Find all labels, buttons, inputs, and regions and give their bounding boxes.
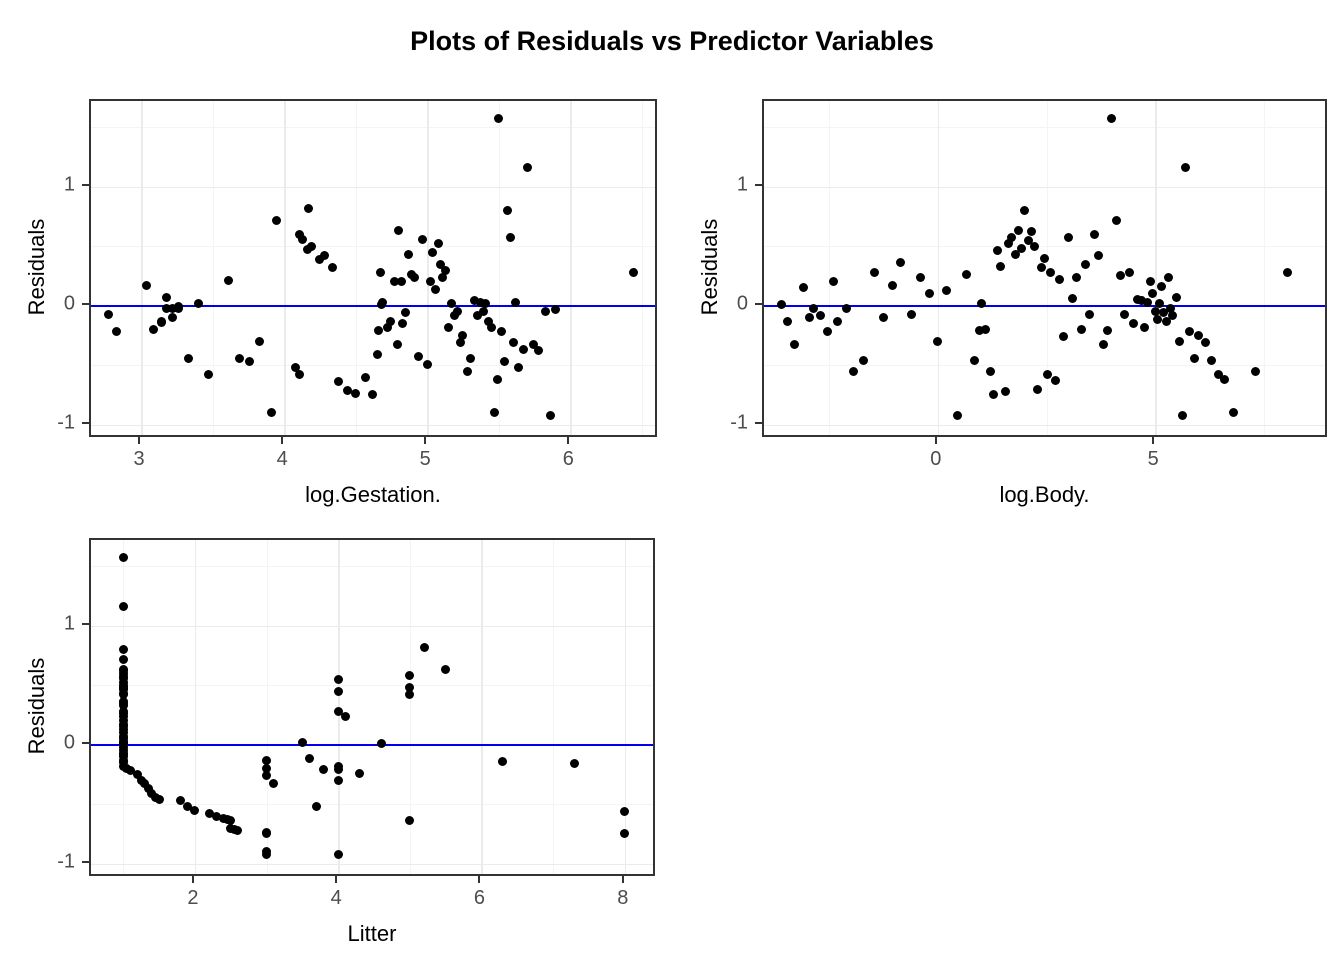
data-point — [1116, 271, 1125, 280]
data-point — [1143, 298, 1152, 307]
data-point — [996, 262, 1005, 271]
y-tick-label: 1 — [23, 612, 75, 635]
data-point — [1120, 310, 1129, 319]
data-point — [142, 281, 151, 290]
data-point — [1164, 273, 1173, 282]
data-point — [1103, 326, 1112, 335]
data-point — [1007, 233, 1016, 242]
data-point — [977, 299, 986, 308]
data-point — [1077, 325, 1086, 334]
y-tick-mark — [82, 184, 89, 186]
data-point — [1046, 268, 1055, 277]
data-point — [376, 268, 385, 277]
data-point — [1153, 315, 1162, 324]
data-point — [620, 829, 629, 838]
data-point — [1001, 387, 1010, 396]
x-tick-label: 4 — [277, 448, 288, 471]
data-point — [1040, 254, 1049, 263]
gridline-major-horizontal — [764, 425, 1325, 427]
gridline-major-vertical — [284, 101, 286, 435]
data-point — [397, 277, 406, 286]
data-point — [190, 806, 199, 815]
data-point — [272, 216, 281, 225]
x-tick-mark — [1152, 437, 1154, 444]
data-point — [463, 367, 472, 376]
x-tick-mark — [424, 437, 426, 444]
data-point — [423, 360, 432, 369]
x-tick-label: 3 — [134, 448, 145, 471]
x-axis-title-log-gestation: log.Gestation. — [89, 482, 657, 508]
data-point — [1172, 293, 1181, 302]
data-point — [1181, 163, 1190, 172]
data-point — [373, 350, 382, 359]
data-point — [1051, 376, 1060, 385]
data-point — [1207, 356, 1216, 365]
data-point — [441, 665, 450, 674]
data-point — [870, 268, 879, 277]
y-tick-mark — [82, 623, 89, 625]
data-point — [295, 370, 304, 379]
data-point — [224, 276, 233, 285]
data-point — [267, 408, 276, 417]
gridline-minor-vertical — [829, 101, 830, 435]
data-point — [493, 375, 502, 384]
data-point — [1030, 242, 1039, 251]
data-point — [896, 258, 905, 267]
data-point — [1140, 323, 1149, 332]
data-point — [184, 354, 193, 363]
data-point — [981, 325, 990, 334]
gridline-minor-horizontal — [91, 566, 653, 567]
gridline-major-vertical — [625, 540, 627, 874]
data-point — [255, 337, 264, 346]
gridline-minor-vertical — [499, 101, 500, 435]
data-point — [1190, 354, 1199, 363]
data-point — [953, 411, 962, 420]
data-point — [1107, 114, 1116, 123]
x-tick-mark — [622, 876, 624, 883]
gridline-major-horizontal — [91, 187, 655, 189]
gridline-major-vertical — [938, 101, 940, 435]
y-tick-label: 0 — [23, 731, 75, 754]
gridline-major-horizontal — [764, 187, 1325, 189]
data-point — [174, 304, 183, 313]
data-point — [378, 298, 387, 307]
data-point — [1017, 244, 1026, 253]
data-point — [262, 771, 271, 780]
data-point — [777, 300, 786, 309]
gridline-major-vertical — [481, 540, 483, 874]
gridline-minor-horizontal — [91, 685, 653, 686]
data-point — [1055, 275, 1064, 284]
data-point — [298, 235, 307, 244]
data-point — [398, 319, 407, 328]
data-point — [993, 246, 1002, 255]
data-point — [989, 390, 998, 399]
y-tick-mark — [82, 861, 89, 863]
data-point — [312, 802, 321, 811]
y-tick-label: 1 — [696, 173, 748, 196]
data-point — [1020, 206, 1029, 215]
data-point — [431, 285, 440, 294]
data-point — [833, 317, 842, 326]
y-tick-label: -1 — [696, 411, 748, 434]
x-tick-mark — [335, 876, 337, 883]
data-point — [319, 765, 328, 774]
data-point — [962, 270, 971, 279]
y-tick-label: 1 — [23, 173, 75, 196]
x-tick-label: 0 — [930, 448, 941, 471]
x-tick-mark — [478, 876, 480, 883]
data-point — [479, 307, 488, 316]
gridline-minor-vertical — [356, 101, 357, 435]
data-point — [304, 204, 313, 213]
gridline-major-vertical — [1155, 101, 1157, 435]
data-point — [262, 829, 271, 838]
data-point — [925, 289, 934, 298]
data-point — [1081, 260, 1090, 269]
data-point — [374, 326, 383, 335]
data-point — [401, 308, 410, 317]
plot-area-log-body[interactable] — [762, 99, 1327, 437]
data-point — [1229, 408, 1238, 417]
gridline-minor-vertical — [553, 540, 554, 874]
y-tick-label: 0 — [23, 292, 75, 315]
data-point — [487, 323, 496, 332]
data-point — [1068, 294, 1077, 303]
data-point — [503, 206, 512, 215]
gridline-minor-vertical — [213, 101, 214, 435]
data-point — [334, 850, 343, 859]
data-point — [394, 226, 403, 235]
gridline-major-horizontal — [91, 425, 655, 427]
data-point — [104, 310, 113, 319]
data-point — [466, 354, 475, 363]
data-point — [509, 338, 518, 347]
data-point — [328, 263, 337, 272]
x-tick-label: 5 — [420, 448, 431, 471]
data-point — [986, 367, 995, 376]
data-point — [1090, 230, 1099, 239]
data-point — [334, 687, 343, 696]
gridline-major-vertical — [427, 101, 429, 435]
data-point — [233, 826, 242, 835]
data-point — [1155, 299, 1164, 308]
data-point — [162, 293, 171, 302]
data-point — [355, 769, 364, 778]
data-point — [799, 283, 808, 292]
data-point — [1157, 282, 1166, 291]
data-point — [410, 273, 419, 282]
data-point — [546, 411, 555, 420]
data-point — [1014, 226, 1023, 235]
x-tick-label: 5 — [1148, 448, 1159, 471]
data-point — [1168, 311, 1177, 320]
data-point — [235, 354, 244, 363]
data-point — [1112, 216, 1121, 225]
data-point — [428, 248, 437, 257]
data-point — [298, 738, 307, 747]
data-point — [269, 779, 278, 788]
gridline-minor-vertical — [267, 540, 268, 874]
y-tick-mark — [82, 303, 89, 305]
gridline-minor-horizontal — [764, 246, 1325, 247]
data-point — [1027, 227, 1036, 236]
data-point — [405, 690, 414, 699]
data-point — [458, 331, 467, 340]
data-point — [916, 273, 925, 282]
data-point — [168, 313, 177, 322]
data-point — [494, 114, 503, 123]
x-tick-mark — [281, 437, 283, 444]
data-point — [1185, 327, 1194, 336]
gridline-minor-horizontal — [764, 365, 1325, 366]
data-point — [1085, 310, 1094, 319]
gridline-minor-horizontal — [764, 127, 1325, 128]
data-point — [377, 739, 386, 748]
data-point — [933, 337, 942, 346]
data-point — [305, 754, 314, 763]
y-tick-label: -1 — [23, 850, 75, 873]
data-point — [307, 242, 316, 251]
data-point — [790, 340, 799, 349]
data-point — [842, 304, 851, 313]
data-point — [849, 367, 858, 376]
data-point — [420, 643, 429, 652]
data-point — [404, 250, 413, 259]
data-point — [1125, 268, 1134, 277]
x-tick-mark — [138, 437, 140, 444]
data-point — [805, 313, 814, 322]
data-point — [1037, 263, 1046, 272]
data-point — [320, 251, 329, 260]
y-tick-mark — [755, 184, 762, 186]
data-point — [149, 325, 158, 334]
data-point — [1220, 375, 1229, 384]
data-point — [441, 266, 450, 275]
plot-area-litter[interactable] — [89, 538, 655, 876]
data-point — [361, 373, 370, 382]
data-point — [1175, 337, 1184, 346]
data-point — [514, 363, 523, 372]
figure-root: Plots of Residuals vs Predictor Variable… — [0, 0, 1344, 960]
y-tick-label: -1 — [23, 411, 75, 434]
data-point — [970, 356, 979, 365]
data-point — [629, 268, 638, 277]
data-point — [157, 318, 166, 327]
data-point — [1033, 385, 1042, 394]
data-point — [414, 352, 423, 361]
data-point — [341, 712, 350, 721]
data-point — [155, 795, 164, 804]
y-axis-title-residuals-1: Residuals — [24, 98, 50, 436]
y-tick-mark — [82, 742, 89, 744]
data-point — [620, 807, 629, 816]
x-tick-mark — [567, 437, 569, 444]
figure-title: Plots of Residuals vs Predictor Variable… — [0, 26, 1344, 57]
data-point — [368, 390, 377, 399]
data-point — [859, 356, 868, 365]
data-point — [453, 307, 462, 316]
x-tick-label: 4 — [331, 887, 342, 910]
data-point — [386, 317, 395, 326]
data-point — [334, 776, 343, 785]
x-tick-label: 2 — [187, 887, 198, 910]
gridline-minor-horizontal — [91, 804, 653, 805]
data-point — [783, 317, 792, 326]
data-point — [1146, 277, 1155, 286]
data-point — [405, 671, 414, 680]
x-tick-mark — [192, 876, 194, 883]
y-tick-label: 0 — [696, 292, 748, 315]
data-point — [942, 286, 951, 295]
data-point — [1129, 319, 1138, 328]
data-point — [534, 346, 543, 355]
data-point — [1178, 411, 1187, 420]
gridline-major-horizontal — [91, 864, 653, 866]
data-point — [519, 345, 528, 354]
data-point — [334, 377, 343, 386]
data-point — [112, 327, 121, 336]
gridline-minor-vertical — [1264, 101, 1265, 435]
y-tick-mark — [82, 422, 89, 424]
x-tick-label: 8 — [617, 887, 628, 910]
data-point — [1064, 233, 1073, 242]
y-tick-mark — [755, 422, 762, 424]
data-point — [497, 327, 506, 336]
y-axis-title-residuals-3: Residuals — [24, 537, 50, 875]
data-point — [879, 313, 888, 322]
x-axis-title-log-body: log.Body. — [762, 482, 1327, 508]
data-point — [204, 370, 213, 379]
data-point — [1059, 332, 1068, 341]
data-point — [1201, 338, 1210, 347]
y-tick-mark — [755, 303, 762, 305]
data-point — [506, 233, 515, 242]
gridline-major-vertical — [141, 101, 143, 435]
gridline-major-horizontal — [91, 626, 653, 628]
data-point — [490, 408, 499, 417]
x-tick-label: 6 — [563, 448, 574, 471]
data-point — [194, 299, 203, 308]
data-point — [829, 277, 838, 286]
gridline-major-vertical — [570, 101, 572, 435]
data-point — [262, 850, 271, 859]
data-point — [888, 281, 897, 290]
data-point — [334, 762, 343, 771]
data-point — [551, 305, 560, 314]
data-point — [1072, 273, 1081, 282]
data-point — [1251, 367, 1260, 376]
data-point — [334, 675, 343, 684]
data-point — [1099, 340, 1108, 349]
data-point — [444, 323, 453, 332]
y-axis-title-residuals-2: Residuals — [697, 98, 723, 436]
data-point — [418, 235, 427, 244]
data-point — [119, 602, 128, 611]
data-point — [1094, 251, 1103, 260]
data-point — [523, 163, 532, 172]
x-tick-label: 6 — [474, 887, 485, 910]
data-point — [570, 759, 579, 768]
x-axis-title-litter: Litter — [89, 921, 655, 947]
data-point — [816, 311, 825, 320]
data-point — [405, 816, 414, 825]
gridline-minor-vertical — [642, 101, 643, 435]
data-point — [498, 757, 507, 766]
data-point — [907, 310, 916, 319]
data-point — [351, 389, 360, 398]
data-point — [541, 307, 550, 316]
data-point — [1283, 268, 1292, 277]
plot-area-log-gestation[interactable] — [89, 99, 657, 437]
data-point — [119, 645, 128, 654]
gridline-major-vertical — [195, 540, 197, 874]
data-point — [823, 327, 832, 336]
data-point — [393, 340, 402, 349]
data-point — [119, 655, 128, 664]
zero-reference-line — [91, 744, 653, 746]
data-point — [119, 553, 128, 562]
x-tick-mark — [935, 437, 937, 444]
